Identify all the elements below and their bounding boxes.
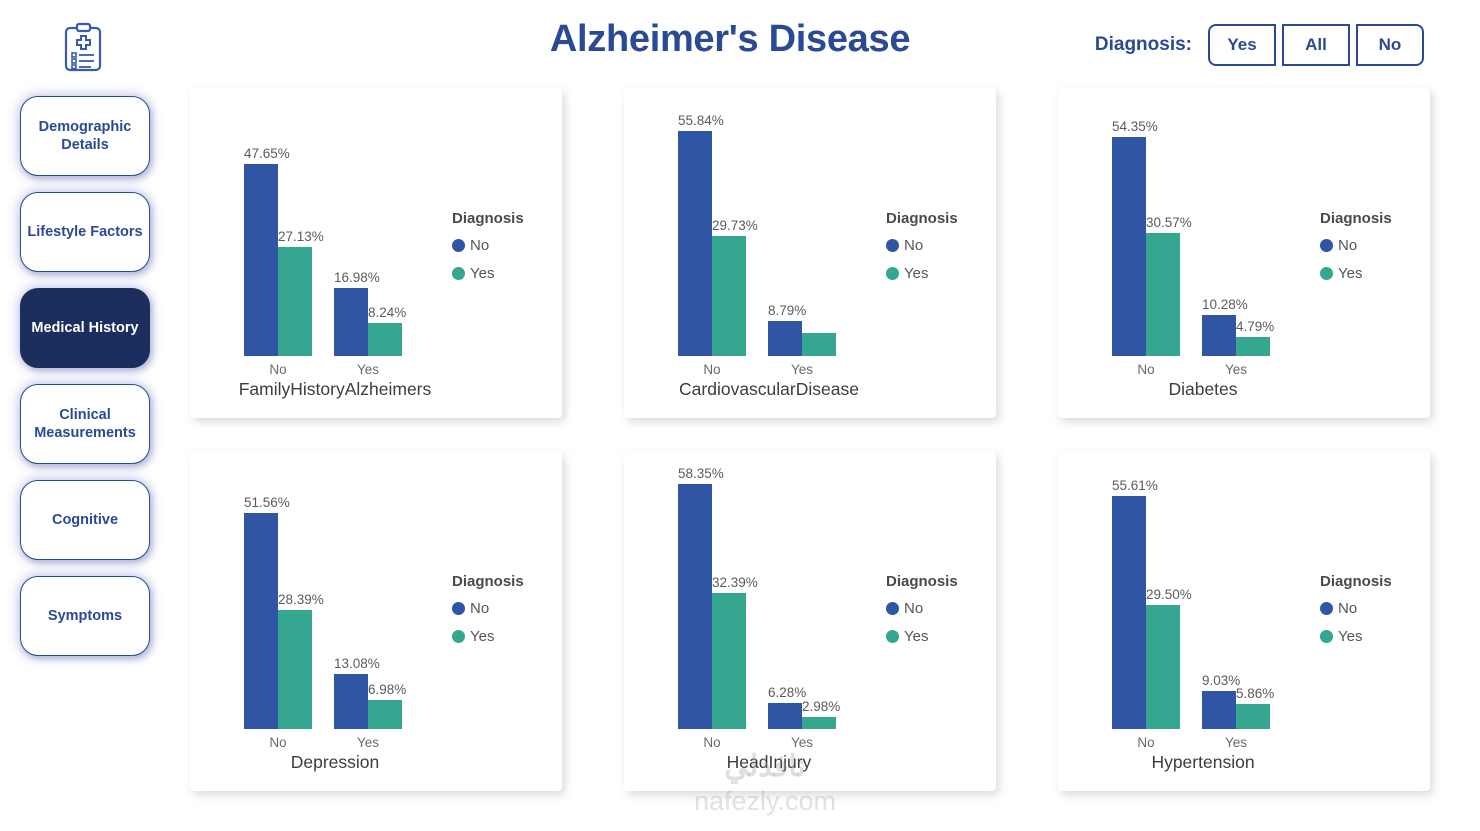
bar-value-label: 2.98%: [802, 699, 840, 714]
legend-swatch-icon: [886, 239, 899, 252]
bar-value-label: 51.56%: [244, 495, 290, 510]
legend-swatch-icon: [1320, 630, 1333, 643]
category-label: No: [1112, 362, 1180, 377]
bar-value-label: 6.98%: [368, 682, 406, 697]
legend-swatch-icon: [886, 630, 899, 643]
bar-group: 9.03%5.86%Yes: [1202, 469, 1270, 729]
plot-area: 51.56%28.39%No13.08%6.98%Yes: [212, 469, 427, 729]
chart-legend: DiagnosisNoYes: [1320, 573, 1392, 656]
legend-swatch-icon: [452, 602, 465, 615]
legend-label: No: [904, 237, 923, 254]
legend-item-no[interactable]: No: [886, 237, 958, 254]
bar-yes[interactable]: [802, 333, 836, 356]
bar-yes[interactable]: 5.86%: [1236, 704, 1270, 729]
bar-no[interactable]: 51.56%: [244, 513, 278, 729]
chart-card: 55.84%29.73%No8.79%YesCardiovascularDise…: [624, 88, 996, 418]
bar-value-label: 55.61%: [1112, 478, 1158, 493]
sidebar-item-medical-history[interactable]: Medical History: [20, 288, 150, 368]
axis-title: HeadInjury: [624, 752, 914, 773]
bar-value-label: 9.03%: [1202, 673, 1240, 688]
legend-label: Yes: [1338, 628, 1362, 645]
legend-item-no[interactable]: No: [452, 600, 524, 617]
bar-value-label: 54.35%: [1112, 119, 1158, 134]
chart-card: 54.35%30.57%No10.28%4.79%YesDiabetesDiag…: [1058, 88, 1430, 418]
category-label: Yes: [334, 362, 402, 377]
bar-no[interactable]: 54.35%: [1112, 137, 1146, 356]
axis-title: Depression: [190, 752, 480, 773]
legend-swatch-icon: [886, 602, 899, 615]
bar-no[interactable]: 55.84%: [678, 131, 712, 356]
category-label: No: [678, 735, 746, 750]
legend-item-yes[interactable]: Yes: [452, 265, 524, 282]
category-label: Yes: [768, 735, 836, 750]
bar-group: 6.28%2.98%Yes: [768, 469, 836, 729]
bar-value-label: 8.24%: [368, 305, 406, 320]
plot-area: 58.35%32.39%No6.28%2.98%Yes: [646, 469, 861, 729]
category-label: No: [244, 362, 312, 377]
chart-grid: 47.65%27.13%No16.98%8.24%YesFamilyHistor…: [190, 88, 1448, 791]
diagnosis-filter-label: Diagnosis:: [1095, 34, 1192, 56]
bar-yes[interactable]: 29.50%: [1146, 605, 1180, 729]
plot-area: 55.84%29.73%No8.79%Yes: [646, 106, 861, 356]
chart-legend: DiagnosisNoYes: [1320, 210, 1392, 293]
legend-swatch-icon: [1320, 602, 1333, 615]
legend-item-no[interactable]: No: [1320, 600, 1392, 617]
bar-yes[interactable]: 32.39%: [712, 593, 746, 729]
bar-value-label: 29.73%: [712, 218, 758, 233]
axis-title: Hypertension: [1058, 752, 1348, 773]
legend-swatch-icon: [452, 630, 465, 643]
axis-title: CardiovascularDisease: [624, 379, 914, 400]
medical-clipboard-icon: [54, 16, 116, 80]
legend-swatch-icon: [452, 267, 465, 280]
diagnosis-filter-buttons: Yes All No: [1208, 24, 1424, 66]
bar-value-label: 58.35%: [678, 466, 724, 481]
bar-yes[interactable]: 27.13%: [278, 247, 312, 356]
bar-value-label: 55.84%: [678, 113, 724, 128]
filter-button-yes[interactable]: Yes: [1208, 24, 1276, 66]
bar-yes[interactable]: 4.79%: [1236, 337, 1270, 356]
page-title: Alzheimer's Disease: [440, 18, 1020, 61]
bar-group: 51.56%28.39%No: [244, 469, 312, 729]
legend-title: Diagnosis: [452, 573, 524, 590]
bar-yes[interactable]: 8.24%: [368, 323, 402, 356]
bar-value-label: 6.28%: [768, 685, 806, 700]
legend-swatch-icon: [1320, 267, 1333, 280]
category-label: No: [1112, 735, 1180, 750]
bar-no[interactable]: 8.79%: [768, 321, 802, 356]
axis-title: FamilyHistoryAlzheimers: [190, 379, 480, 400]
legend-item-yes[interactable]: Yes: [886, 265, 958, 282]
chart-card: 47.65%27.13%No16.98%8.24%YesFamilyHistor…: [190, 88, 562, 418]
legend-item-no[interactable]: No: [452, 237, 524, 254]
category-label: Yes: [1202, 362, 1270, 377]
legend-label: No: [904, 600, 923, 617]
bar-value-label: 47.65%: [244, 146, 290, 161]
legend-label: Yes: [470, 628, 494, 645]
category-label: No: [678, 362, 746, 377]
sidebar-item-clinical-measurements[interactable]: Clinical Measurements: [20, 384, 150, 464]
legend-label: Yes: [470, 265, 494, 282]
bar-no[interactable]: 10.28%: [1202, 315, 1236, 356]
bar-group: 55.61%29.50%No: [1112, 469, 1180, 729]
bar-group: 54.35%30.57%No: [1112, 106, 1180, 356]
legend-item-yes[interactable]: Yes: [1320, 265, 1392, 282]
chart-card: 51.56%28.39%No13.08%6.98%YesDepressionDi…: [190, 451, 562, 791]
category-label: Yes: [768, 362, 836, 377]
category-label: No: [244, 735, 312, 750]
legend-title: Diagnosis: [1320, 210, 1392, 227]
watermark-url: nafezly.com: [640, 788, 890, 815]
legend-swatch-icon: [452, 239, 465, 252]
bar-no[interactable]: 9.03%: [1202, 691, 1236, 729]
bar-no[interactable]: 55.61%: [1112, 496, 1146, 729]
legend-title: Diagnosis: [1320, 573, 1392, 590]
bar-group: 55.84%29.73%No: [678, 106, 746, 356]
sidebar-item-cognitive[interactable]: Cognitive: [20, 480, 150, 560]
legend-label: No: [1338, 600, 1357, 617]
bar-no[interactable]: 6.28%: [768, 703, 802, 729]
bar-value-label: 28.39%: [278, 592, 324, 607]
bar-value-label: 29.50%: [1146, 587, 1192, 602]
legend-title: Diagnosis: [886, 573, 958, 590]
legend-label: Yes: [1338, 265, 1362, 282]
bar-no[interactable]: 13.08%: [334, 674, 368, 729]
chart-legend: DiagnosisNoYes: [452, 573, 524, 656]
bar-group: 10.28%4.79%Yes: [1202, 106, 1270, 356]
bar-no[interactable]: 16.98%: [334, 288, 368, 356]
filter-button-no[interactable]: No: [1356, 24, 1424, 66]
bar-value-label: 27.13%: [278, 229, 324, 244]
bar-value-label: 8.79%: [768, 303, 806, 318]
legend-item-no[interactable]: No: [1320, 237, 1392, 254]
legend-label: No: [470, 237, 489, 254]
bar-value-label: 30.57%: [1146, 215, 1192, 230]
sidebar-item-lifestyle-factors[interactable]: Lifestyle Factors: [20, 192, 150, 272]
sidebar-item-demographic-details[interactable]: Demographic Details: [20, 96, 150, 176]
legend-swatch-icon: [1320, 239, 1333, 252]
sidebar: Demographic Details Lifestyle Factors Me…: [0, 0, 170, 831]
bar-no[interactable]: 47.65%: [244, 164, 278, 356]
chart-legend: DiagnosisNoYes: [886, 573, 958, 656]
bar-group: 16.98%8.24%Yes: [334, 106, 402, 356]
legend-title: Diagnosis: [886, 210, 958, 227]
bar-yes[interactable]: 30.57%: [1146, 233, 1180, 356]
bar-value-label: 4.79%: [1236, 319, 1274, 334]
legend-item-no[interactable]: No: [886, 600, 958, 617]
bar-yes[interactable]: 28.39%: [278, 610, 312, 729]
bar-value-label: 13.08%: [334, 656, 380, 671]
bar-group: 58.35%32.39%No: [678, 469, 746, 729]
legend-swatch-icon: [886, 267, 899, 280]
legend-label: Yes: [904, 628, 928, 645]
legend-label: Yes: [904, 265, 928, 282]
bar-yes[interactable]: 2.98%: [802, 717, 836, 729]
axis-title: Diabetes: [1058, 379, 1348, 400]
legend-label: No: [470, 600, 489, 617]
bar-group: 47.65%27.13%No: [244, 106, 312, 356]
plot-area: 54.35%30.57%No10.28%4.79%Yes: [1080, 106, 1295, 356]
bar-value-label: 10.28%: [1202, 297, 1248, 312]
chart-card: 55.61%29.50%No9.03%5.86%YesHypertensionD…: [1058, 451, 1430, 791]
bar-yes[interactable]: 29.73%: [712, 236, 746, 356]
legend-item-yes[interactable]: Yes: [452, 628, 524, 645]
filter-button-all[interactable]: All: [1282, 24, 1350, 66]
sidebar-item-symptoms[interactable]: Symptoms: [20, 576, 150, 656]
chart-legend: DiagnosisNoYes: [886, 210, 958, 293]
plot-area: 47.65%27.13%No16.98%8.24%Yes: [212, 106, 427, 356]
bar-value-label: 5.86%: [1236, 686, 1274, 701]
legend-item-yes[interactable]: Yes: [886, 628, 958, 645]
chart-legend: DiagnosisNoYes: [452, 210, 524, 293]
bar-yes[interactable]: 6.98%: [368, 700, 402, 729]
legend-item-yes[interactable]: Yes: [1320, 628, 1392, 645]
legend-title: Diagnosis: [452, 210, 524, 227]
category-label: Yes: [1202, 735, 1270, 750]
category-label: Yes: [334, 735, 402, 750]
bar-no[interactable]: 58.35%: [678, 484, 712, 729]
bar-group: 13.08%6.98%Yes: [334, 469, 402, 729]
diagnosis-filter-bar: Diagnosis: Yes All No: [1095, 24, 1424, 66]
bar-value-label: 32.39%: [712, 575, 758, 590]
bar-group: 8.79%Yes: [768, 106, 836, 356]
bar-value-label: 16.98%: [334, 270, 380, 285]
legend-label: No: [1338, 237, 1357, 254]
chart-card: 58.35%32.39%No6.28%2.98%YesHeadInjuryDia…: [624, 451, 996, 791]
plot-area: 55.61%29.50%No9.03%5.86%Yes: [1080, 469, 1295, 729]
